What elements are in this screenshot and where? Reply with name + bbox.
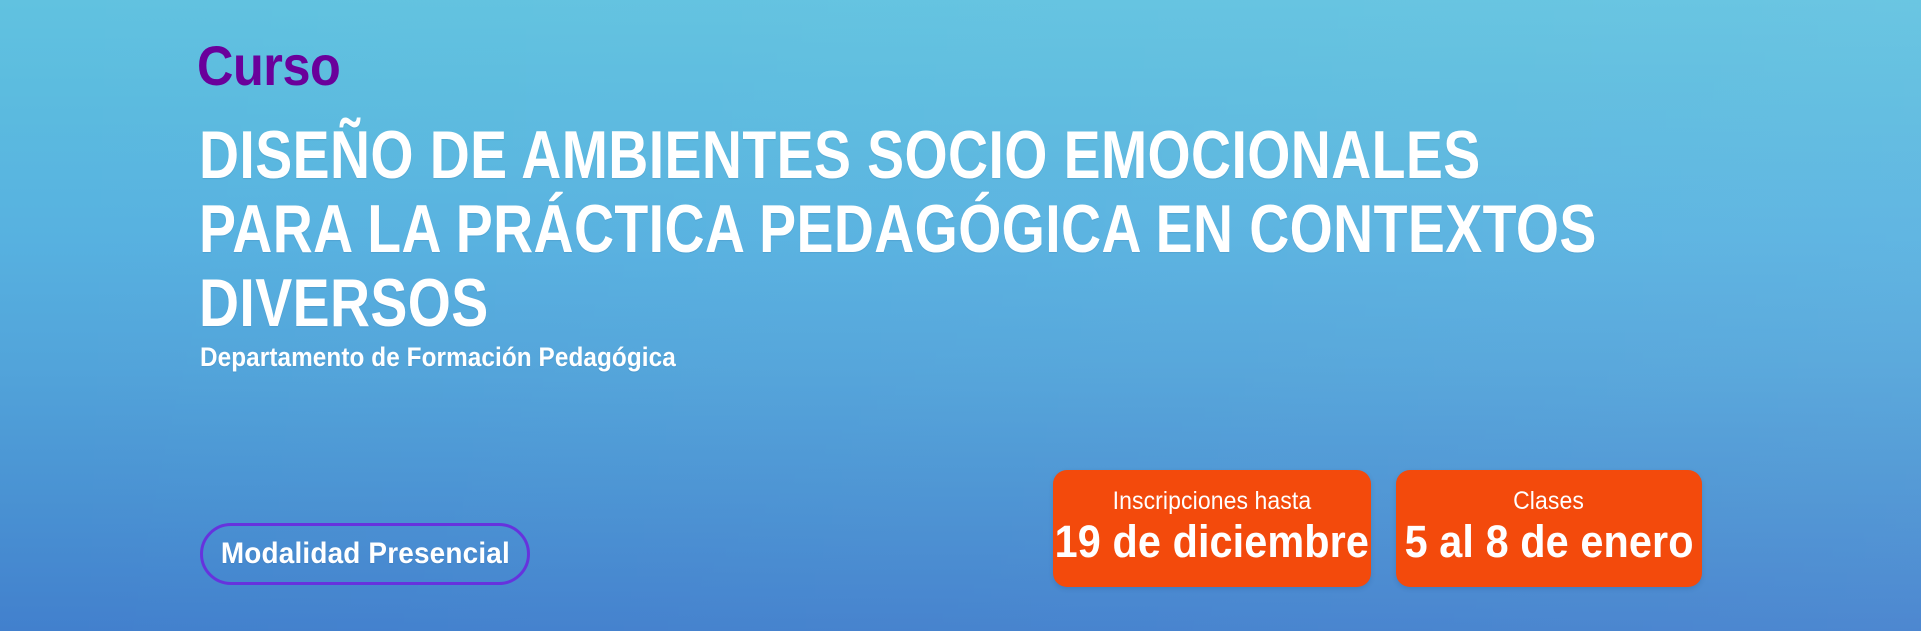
class-dates-value: 5 al 8 de enero	[1404, 517, 1693, 567]
course-eyebrow-label: Curso	[197, 38, 340, 94]
course-title: DISEÑO DE AMBIENTES SOCIO EMOCIONALES PA…	[199, 118, 1759, 340]
enrollment-deadline-value: 19 de diciembre	[1055, 517, 1369, 567]
course-title-line-3: DIVERSOS	[199, 266, 1470, 340]
class-dates-caption: Clases	[1514, 486, 1585, 516]
modality-badge-label: Modalidad Presencial	[220, 539, 509, 569]
course-promo-banner: Curso DISEÑO DE AMBIENTES SOCIO EMOCIONA…	[0, 0, 1921, 631]
enrollment-deadline-caption: Inscripciones hasta	[1113, 486, 1312, 516]
department-label: Departamento de Formación Pedagógica	[200, 341, 676, 373]
modality-badge: Modalidad Presencial	[200, 523, 530, 585]
class-dates-card: Clases 5 al 8 de enero	[1396, 470, 1702, 587]
course-title-line-1: DISEÑO DE AMBIENTES SOCIO EMOCIONALES	[199, 118, 1470, 192]
course-title-line-2: PARA LA PRÁCTICA PEDAGÓGICA EN CONTEXTOS	[199, 192, 1470, 266]
banner-content: Curso DISEÑO DE AMBIENTES SOCIO EMOCIONA…	[0, 0, 1921, 631]
enrollment-deadline-card: Inscripciones hasta 19 de diciembre	[1053, 470, 1371, 587]
